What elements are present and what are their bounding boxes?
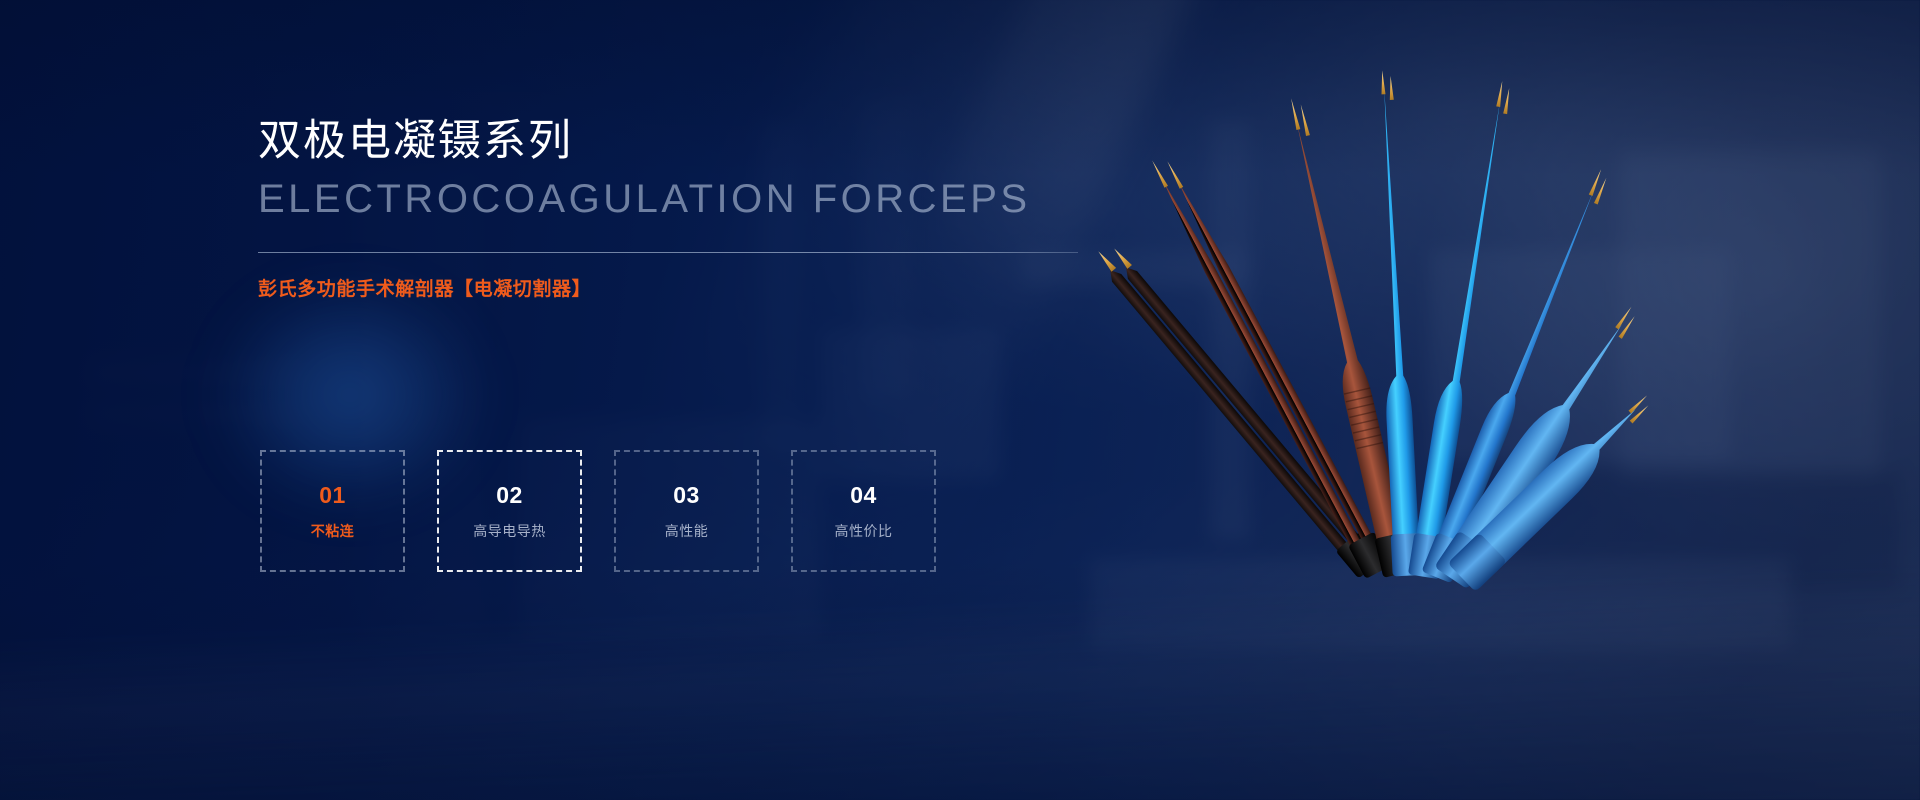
- title-divider: [258, 252, 1078, 253]
- product-banner: 双极电凝镊系列 ELECTROCOAGULATION FORCEPS 彭氏多功能…: [0, 0, 1920, 800]
- feature-label: 高性能: [665, 524, 709, 538]
- feature-label: 不粘连: [311, 524, 355, 538]
- feature-list: 01 不粘连 02 高导电导热 03 高性能 04 高性价比: [260, 450, 936, 572]
- feature-card-01[interactable]: 01 不粘连: [260, 450, 405, 572]
- feature-number: 01: [319, 484, 346, 507]
- feature-number: 03: [673, 484, 700, 507]
- page-title-en: ELECTROCOAGULATION FORCEPS: [258, 179, 1098, 219]
- feature-number: 02: [496, 484, 523, 507]
- feature-card-02[interactable]: 02 高导电导热: [437, 450, 582, 572]
- feature-label: 高性价比: [835, 524, 893, 538]
- page-title-cn: 双极电凝镊系列: [258, 120, 1098, 163]
- feature-number: 04: [850, 484, 877, 507]
- feature-card-04[interactable]: 04 高性价比: [791, 450, 936, 572]
- forceps-product-image: [1110, 70, 1670, 630]
- feature-card-03[interactable]: 03 高性能: [614, 450, 759, 572]
- feature-label: 高导电导热: [473, 524, 546, 538]
- headline-block: 双极电凝镊系列 ELECTROCOAGULATION FORCEPS 彭氏多功能…: [258, 120, 1098, 299]
- product-tagline: 彭氏多功能手术解剖器【电凝切割器】: [258, 280, 1098, 299]
